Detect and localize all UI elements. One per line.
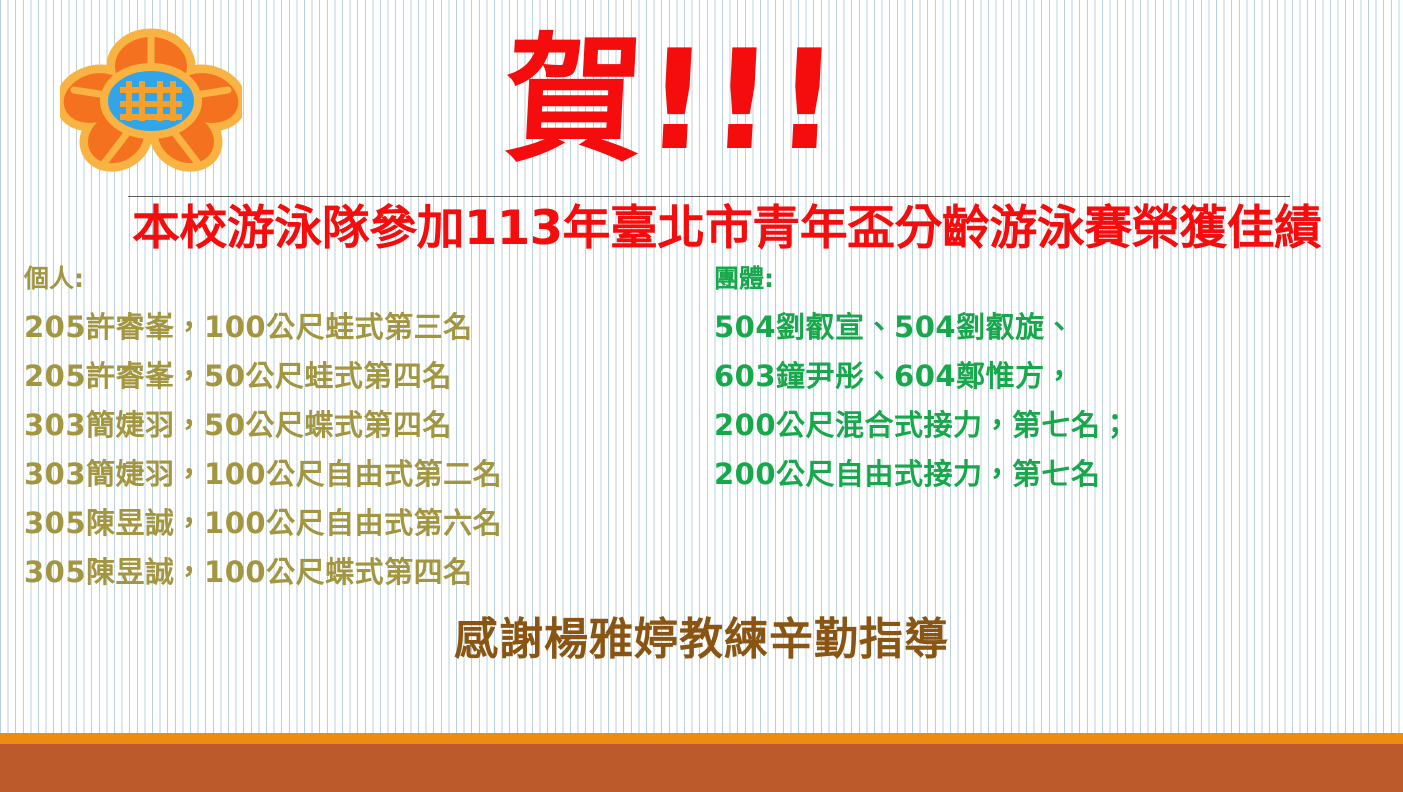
headline-divider-rule <box>128 196 1290 197</box>
result-line: 305陳昱誠，100公尺蝶式第四名 <box>24 555 684 589</box>
result-line: 200公尺混合式接力，第七名； <box>714 408 1354 442</box>
results-columns: 個人: 205許睿峯，100公尺蛙式第三名 205許睿峯，50公尺蛙式第四名 3… <box>0 262 1403 602</box>
team-results-heading: 團體: <box>714 262 1354 296</box>
plum-blossom-school-emblem <box>60 28 242 174</box>
individual-results-heading: 個人: <box>24 262 684 296</box>
result-line: 200公尺自由式接力，第七名 <box>714 457 1354 491</box>
coach-thanks-line: 感謝楊雅婷教練辛勤指導 <box>0 612 1403 668</box>
result-line: 504劉叡宣、504劉叡旋、 <box>714 310 1354 344</box>
footer-base-bar <box>0 744 1403 792</box>
result-line: 303簡婕羽，100公尺自由式第二名 <box>24 457 684 491</box>
result-line: 305陳昱誠，100公尺自由式第六名 <box>24 506 684 540</box>
slide-canvas: 賀!!! 本校游泳隊參加113年臺北市青年盃分齡游泳賽榮獲佳績 個人: 205許… <box>0 0 1403 792</box>
footer-accent-bar <box>0 733 1403 744</box>
team-results-column: 團體: 504劉叡宣、504劉叡旋、 603鐘尹彤、604鄭惟方， 200公尺混… <box>714 262 1354 506</box>
result-line: 205許睿峯，100公尺蛙式第三名 <box>24 310 684 344</box>
result-line: 205許睿峯，50公尺蛙式第四名 <box>24 359 684 393</box>
individual-results-column: 個人: 205許睿峯，100公尺蛙式第三名 205許睿峯，50公尺蛙式第四名 3… <box>24 262 684 604</box>
result-line: 303簡婕羽，50公尺蝶式第四名 <box>24 408 684 442</box>
hero-congratulation-title: 賀!!! <box>501 26 849 186</box>
achievement-headline: 本校游泳隊參加113年臺北市青年盃分齡游泳賽榮獲佳績 <box>132 201 1387 257</box>
result-line: 603鐘尹彤、604鄭惟方， <box>714 359 1354 393</box>
